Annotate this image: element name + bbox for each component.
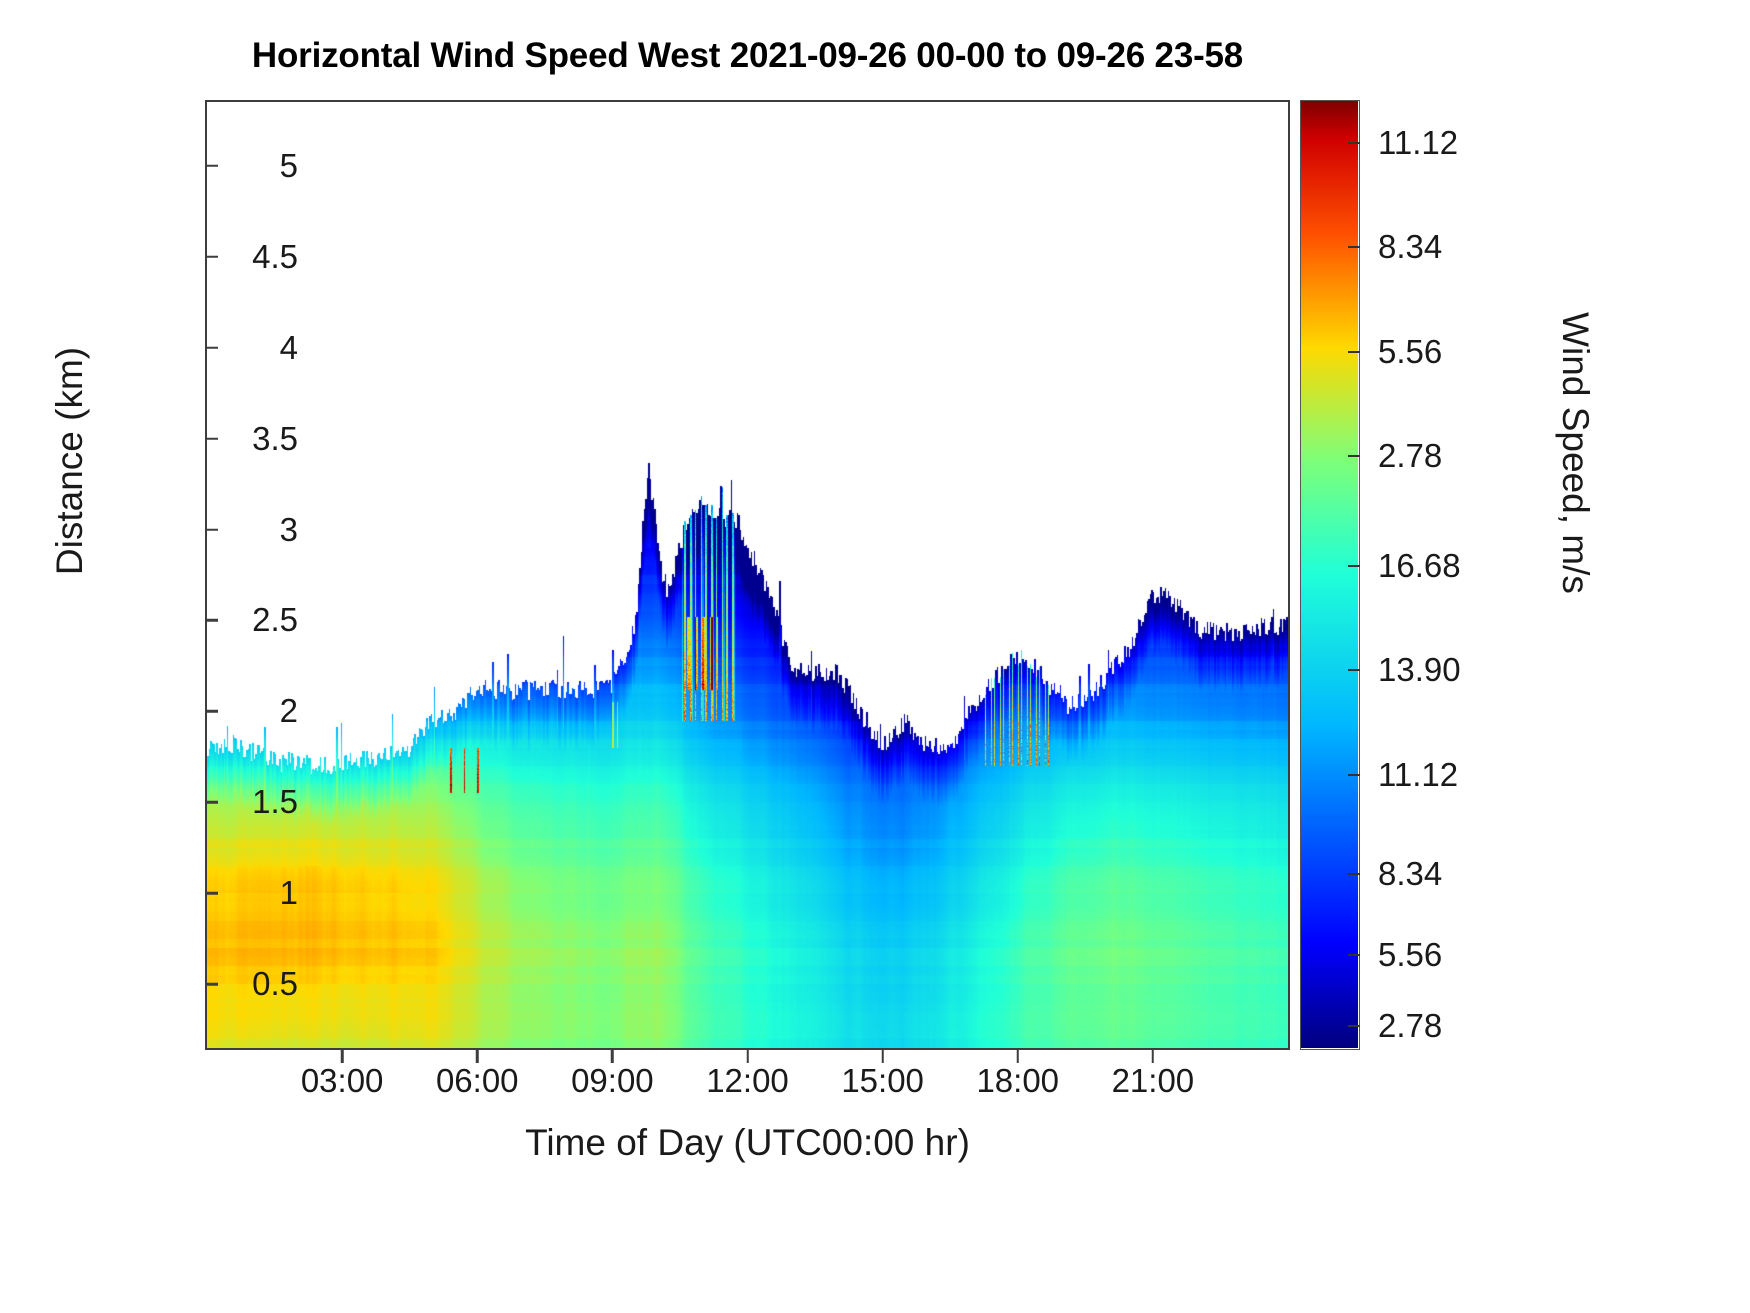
- colorbar-tick-mark: [1348, 774, 1360, 776]
- y-tick-mark: [205, 983, 218, 986]
- y-tick-mark: [205, 619, 218, 622]
- x-tick-mark: [881, 1050, 884, 1063]
- colorbar-tick-label: 16.68: [1378, 547, 1461, 585]
- colorbar-gradient: [1301, 101, 1358, 1048]
- plot-axes-box: [205, 100, 1290, 1050]
- x-tick-label: 09:00: [571, 1062, 654, 1100]
- y-tick-mark: [205, 528, 218, 531]
- y-tick-mark: [205, 255, 218, 258]
- x-tick-label: 15:00: [841, 1062, 924, 1100]
- y-tick-mark: [205, 710, 218, 713]
- x-tick-mark: [1017, 1050, 1020, 1063]
- colorbar-tick-label: 5.56: [1378, 936, 1442, 974]
- y-tick-label: 4.5: [252, 238, 298, 276]
- x-tick-label: 21:00: [1112, 1062, 1195, 1100]
- x-tick-mark: [1152, 1050, 1155, 1063]
- figure-canvas: Horizontal Wind Speed West 2021-09-26 00…: [0, 0, 1750, 1313]
- y-tick-label: 5: [280, 147, 298, 185]
- x-tick-mark: [746, 1050, 749, 1063]
- y-axis-label: Distance (km): [49, 226, 91, 696]
- colorbar-tick-label: 13.90: [1378, 651, 1461, 689]
- y-tick-mark: [205, 892, 218, 895]
- colorbar-tick-mark: [1348, 954, 1360, 956]
- colorbar-tick-mark: [1348, 246, 1360, 248]
- y-tick-mark: [205, 346, 218, 349]
- colorbar-tick-mark: [1348, 565, 1360, 567]
- colorbar-tick-label: 8.34: [1378, 228, 1442, 266]
- colorbar-tick-label: 2.78: [1378, 1007, 1442, 1045]
- page-title: Horizontal Wind Speed West 2021-09-26 00…: [205, 36, 1290, 76]
- colorbar-tick-label: 11.12: [1378, 124, 1458, 162]
- colorbar-tick-label: 5.56: [1378, 333, 1442, 371]
- y-tick-label: 4: [280, 329, 298, 367]
- y-tick-label: 1.5: [252, 783, 298, 821]
- colorbar-tick-mark: [1348, 669, 1360, 671]
- colorbar-tick-label: 8.34: [1378, 855, 1442, 893]
- colorbar: [1300, 100, 1360, 1050]
- x-tick-label: 06:00: [436, 1062, 519, 1100]
- y-tick-label: 0.5: [252, 965, 298, 1003]
- x-tick-label: 18:00: [976, 1062, 1059, 1100]
- x-tick-label: 03:00: [301, 1062, 384, 1100]
- heatmap-image: [207, 102, 1288, 1048]
- colorbar-tick-mark: [1348, 455, 1360, 457]
- colorbar-tick-mark: [1348, 142, 1360, 144]
- y-tick-label: 3.5: [252, 420, 298, 458]
- colorbar-tick-mark: [1348, 351, 1360, 353]
- y-tick-label: 3: [280, 511, 298, 549]
- colorbar-tick-label: 11.12: [1378, 756, 1458, 794]
- colorbar-tick-label: 2.78: [1378, 437, 1442, 475]
- y-tick-label: 2: [280, 692, 298, 730]
- y-tick-mark: [205, 164, 218, 167]
- x-axis-label: Time of Day (UTC00:00 hr): [205, 1122, 1290, 1164]
- colorbar-label: Wind Speed, m/s: [1554, 223, 1596, 683]
- x-tick-label: 12:00: [706, 1062, 789, 1100]
- colorbar-tick-mark: [1348, 873, 1360, 875]
- y-tick-mark: [205, 801, 218, 804]
- x-tick-mark: [476, 1050, 479, 1063]
- colorbar-tick-mark: [1348, 1025, 1360, 1027]
- y-tick-label: 1: [280, 874, 298, 912]
- y-tick-label: 2.5: [252, 601, 298, 639]
- x-tick-mark: [341, 1050, 344, 1063]
- x-tick-mark: [611, 1050, 614, 1063]
- y-tick-mark: [205, 437, 218, 440]
